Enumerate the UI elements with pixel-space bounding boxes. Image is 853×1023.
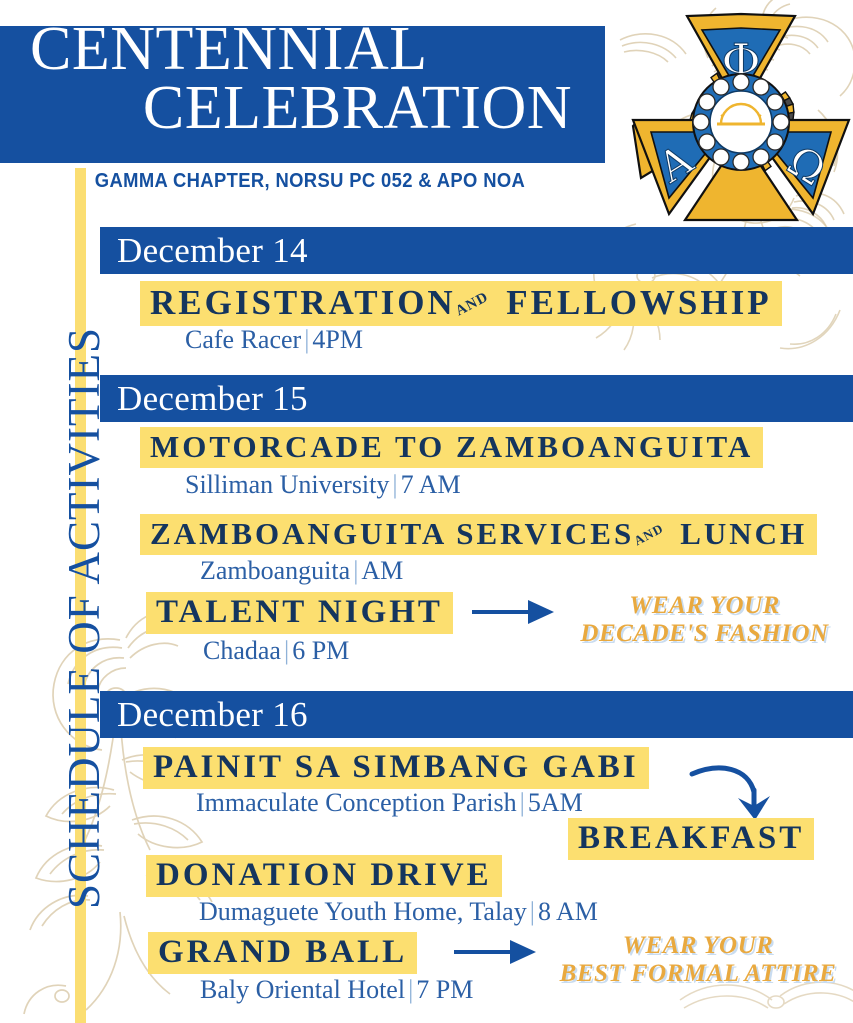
note-line-2: DECADE'S FASHION [577, 620, 832, 648]
venue-text: Silliman University [185, 470, 389, 499]
event-venue-grand-ball: Baly Oriental Hotel|7 PM [200, 975, 473, 1005]
event-title-grand-ball: GRAND BALL [148, 932, 417, 974]
and-conjunction: AND [630, 519, 669, 550]
time-text: AM [361, 556, 403, 585]
schedule-of-activities-label: SCHEDULE OF ACTIVITIES [58, 218, 118, 1018]
event-title-text-2: FELLOWSHIP [506, 283, 771, 322]
event-title-text-2: LUNCH [680, 516, 807, 551]
note-line-2: BEST FORMAL ATTIRE [558, 960, 838, 988]
event-venue-registration-and-fellowship: Cafe Racer|4PM [185, 325, 363, 355]
title-line-2: CELEBRATION [24, 79, 584, 138]
note-talent-night: WEAR YOUR DECADE'S FASHION [577, 592, 832, 648]
event-title-text: DONATION DRIVE [156, 857, 492, 893]
separator-text: | [281, 636, 292, 665]
event-title-text: BREAKFAST [578, 820, 804, 856]
title-line-1: CENTENNIAL [24, 20, 584, 79]
event-title-talent-night: TALENT NIGHT [146, 592, 453, 634]
date-bar-december-14: December 14 [100, 227, 853, 274]
event-title-breakfast: BREAKFAST [568, 818, 814, 860]
separator-text: | [517, 788, 528, 817]
arrow-right-icon-grand-ball [452, 936, 542, 968]
poster-canvas: CENTENNIAL CELEBRATION GAMMA CHAPTER, NO… [0, 0, 853, 1023]
event-title-text: REGISTRATION [150, 283, 456, 322]
event-title-text: MOTORCADE TO ZAMBOANGUITA [150, 429, 753, 464]
separator-text: | [301, 325, 312, 354]
event-title-text: PAINIT SA SIMBANG GABI [153, 749, 639, 785]
event-title-text: TALENT NIGHT [156, 594, 443, 630]
event-title-painit-sa-simbang-gabi: PAINIT SA SIMBANG GABI [143, 747, 649, 789]
event-title-motorcade-to-zamboanguita: MOTORCADE TO ZAMBOANGUITA [140, 427, 763, 468]
event-title-text: ZAMBOANGUITA SERVICES [150, 516, 634, 551]
event-venue-painit-sa-simbang-gabi: Immaculate Conception Parish|5AM [196, 788, 583, 818]
venue-text: Baly Oriental Hotel [200, 975, 405, 1004]
date-label: December 15 [100, 375, 853, 422]
venue-text: Dumaguete Youth Home, Talay [199, 897, 527, 926]
event-venue-motorcade-to-zamboanguita: Silliman University|7 AM [185, 470, 461, 500]
time-text: 5AM [528, 788, 583, 817]
venue-text: Immaculate Conception Parish [196, 788, 517, 817]
event-title-zamboanguita-services-and-lunch: ZAMBOANGUITA SERVICESAND LUNCH [140, 514, 817, 555]
venue-text: Cafe Racer [185, 325, 301, 354]
note-line-1: WEAR YOUR [577, 592, 832, 620]
event-venue-zamboanguita-services-and-lunch: Zamboanguita|AM [200, 556, 403, 586]
separator-text: | [389, 470, 400, 499]
time-text: 4PM [312, 325, 363, 354]
separator-text: | [405, 975, 416, 1004]
time-text: 8 AM [538, 897, 598, 926]
time-text: 6 PM [292, 636, 349, 665]
time-text: 7 PM [416, 975, 473, 1004]
note-grand-ball: WEAR YOUR BEST FORMAL ATTIRE [558, 932, 838, 988]
date-bar-december-16: December 16 [100, 691, 853, 738]
event-title-text: GRAND BALL [158, 934, 407, 970]
venue-text: Chadaa [203, 636, 281, 665]
event-title-donation-drive: DONATION DRIVE [146, 855, 502, 897]
event-venue-donation-drive: Dumaguete Youth Home, Talay|8 AM [199, 897, 598, 927]
time-text: 7 AM [401, 470, 461, 499]
alpha-phi-omega-badge-icon: Φ Α Ω [629, 8, 853, 236]
event-venue-talent-night: Chadaa|6 PM [203, 636, 349, 666]
arrow-right-icon-talent-night [470, 596, 560, 628]
center-medallion [693, 74, 789, 170]
note-line-1: WEAR YOUR [558, 932, 838, 960]
separator-text: | [527, 897, 538, 926]
event-title-registration-and-fellowship: REGISTRATIONAND FELLOWSHIP [140, 281, 782, 326]
subtitle: GAMMA CHAPTER, NORSU PC 052 & APO NOA [25, 170, 595, 193]
page-title: CENTENNIAL CELEBRATION [24, 20, 584, 138]
venue-text: Zamboanguita [200, 556, 350, 585]
separator-text: | [350, 556, 361, 585]
and-conjunction: AND [451, 288, 493, 321]
date-label: December 14 [100, 227, 853, 274]
date-label: December 16 [100, 691, 853, 738]
date-bar-december-15: December 15 [100, 375, 853, 422]
